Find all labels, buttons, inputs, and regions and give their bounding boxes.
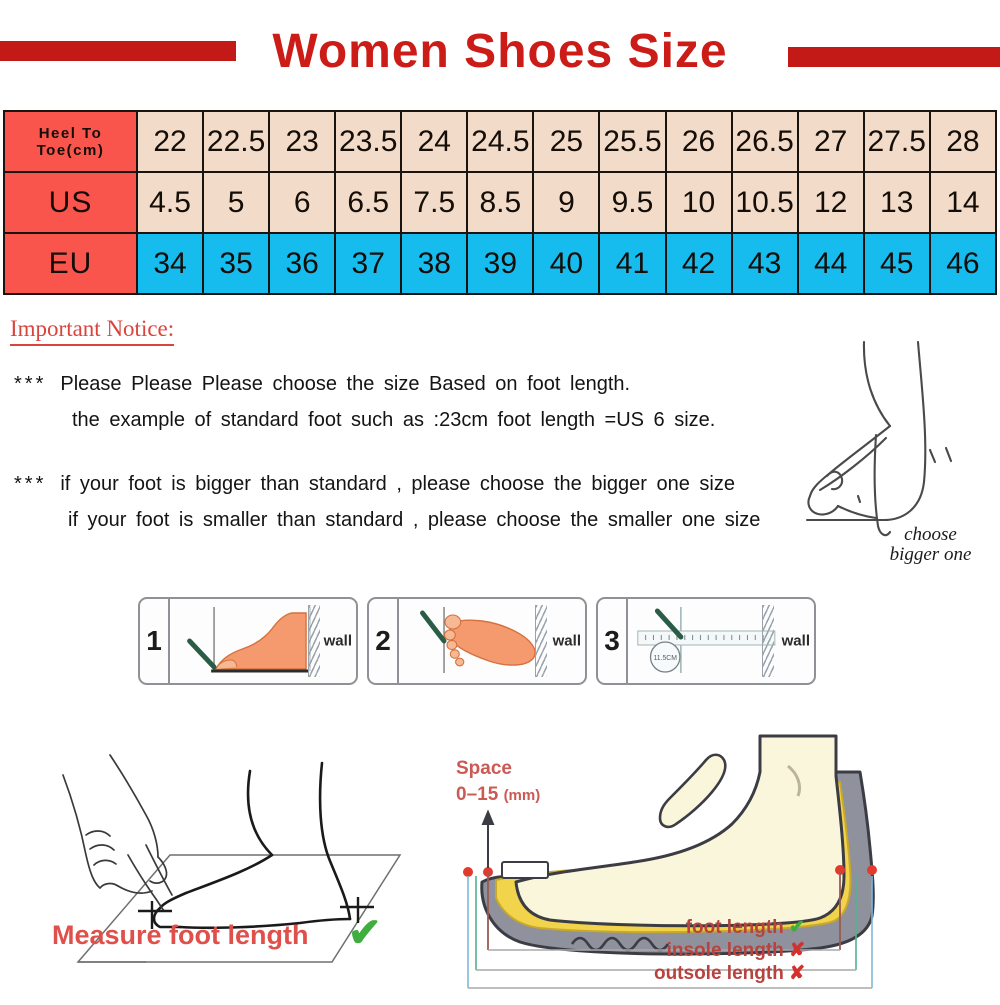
measuring-steps: 1 wall 2 [138,597,816,685]
notice-text-3: if your foot is bigger than standard , p… [60,473,735,495]
notice-block-2: ***if your foot is bigger than standard … [14,473,760,532]
cell-eu-1: 35 [203,233,269,294]
notice-text-1: Please Please Please choose the size Bas… [60,373,630,395]
cell-cm-1: 22.5 [203,111,269,172]
cell-eu-11: 45 [864,233,930,294]
cell-us-10: 12 [798,172,864,233]
foot-length-label-row: foot length ✔ [505,916,805,939]
wall-label-3: wall [782,633,810,650]
notice-block-2-line-1: ***if your foot is bigger than standard … [14,473,760,496]
wall-label-1: wall [324,633,352,650]
notice-text-4: if your foot is smaller than standard , … [68,509,760,532]
cell-cm-2: 23 [269,111,335,172]
step-1-illustration: wall [170,599,356,683]
foot-length-label: foot length [686,917,784,938]
insole-length-label-row: insole length ✘ [505,939,805,962]
cell-us-4: 7.5 [401,172,467,233]
cell-us-9: 10.5 [732,172,798,233]
insole-length-label: insole length [667,940,784,961]
step-number-2: 2 [369,599,399,683]
notice-text-2: the example of standard foot such as :23… [72,409,715,432]
notice-stars: *** [14,373,46,395]
space-label: Space 0–15 (mm) [456,756,540,807]
cell-cm-3: 23.5 [335,111,401,172]
space-label-line-1: Space [456,756,540,782]
cell-cm-9: 26.5 [732,111,798,172]
cell-eu-8: 42 [666,233,732,294]
cell-us-6: 9 [533,172,599,233]
cell-eu-4: 38 [401,233,467,294]
cell-us-0: 4.5 [137,172,203,233]
cell-cm-0: 22 [137,111,203,172]
wall-label-2: wall [553,633,581,650]
cell-eu-3: 37 [335,233,401,294]
magnifier-value-text: 11.5CM [653,655,677,662]
foot-side-sketch: choose bigger one [800,330,1000,580]
check-mark-icon: ✔ [789,917,805,938]
outsole-length-label: outsole length [654,963,784,984]
measure-foot-illustration: Measure foot length ✔ [0,705,420,1000]
wall-hatching-3 [762,605,774,677]
cell-eu-0: 34 [137,233,203,294]
table-row-us: US 4.5 5 6 6.5 7.5 8.5 9 9.5 10 10.5 12 … [4,172,996,233]
notice-stars-2: *** [14,473,46,495]
cell-eu-5: 39 [467,233,533,294]
cell-eu-10: 44 [798,233,864,294]
cell-eu-6: 40 [533,233,599,294]
cell-us-1: 5 [203,172,269,233]
cell-cm-7: 25.5 [599,111,665,172]
foot-sketch-caption-line-1: choose [858,525,1000,545]
table-row-eu: EU 34 35 36 37 38 39 40 41 42 43 44 45 4… [4,233,996,294]
cell-us-11: 13 [864,172,930,233]
step-number-3: 3 [598,599,628,683]
step-2-illustration: wall [399,599,585,683]
cell-us-12: 14 [930,172,996,233]
foot-sketch-caption: choose bigger one [858,525,1000,565]
space-range-value: 0–15 [456,784,498,805]
wall-hatching-2 [535,605,547,677]
cell-eu-7: 41 [599,233,665,294]
outsole-length-label-row: outsole length ✘ [505,962,805,985]
row-label-us: US [4,172,137,233]
row-label-heel-to-toe: Heel To Toe(cm) [4,111,137,172]
size-table-body: Heel To Toe(cm) 22 22.5 23 23.5 24 24.5 … [4,111,996,294]
foot-sketch-caption-line-2: bigger one [858,545,1000,565]
space-unit: (mm) [504,787,541,804]
notice-block-1-line-1: ***Please Please Please choose the size … [14,373,715,396]
cross-mark-icon-outsole: ✘ [789,963,805,984]
page-title: Women Shoes Size [0,24,1000,79]
green-check-icon: ✔ [348,910,382,956]
cell-cm-4: 24 [401,111,467,172]
notice-block-1: ***Please Please Please choose the size … [14,373,715,432]
cell-eu-9: 43 [732,233,798,294]
row-label-eu: EU [4,233,137,294]
cross-mark-icon-insole: ✘ [789,940,805,961]
cell-us-5: 8.5 [467,172,533,233]
cell-eu-12: 46 [930,233,996,294]
cell-cm-10: 27 [798,111,864,172]
step-panel-1: 1 wall [138,597,358,685]
step-3-illustration: 11.5CM wall [628,599,814,683]
length-labels: foot length ✔ insole length ✘ outsole le… [505,916,805,986]
step-panel-3: 3 11.5CM [596,597,816,685]
cell-us-7: 9.5 [599,172,665,233]
cell-cm-11: 27.5 [864,111,930,172]
cell-eu-2: 36 [269,233,335,294]
shoe-size-table: Heel To Toe(cm) 22 22.5 23 23.5 24 24.5 … [3,110,997,295]
cell-cm-8: 26 [666,111,732,172]
notice-title: Important Notice: [10,316,174,346]
cell-cm-5: 24.5 [467,111,533,172]
wall-hatching-1 [308,605,320,677]
step-number-1: 1 [140,599,170,683]
cell-us-2: 6 [269,172,335,233]
step-panel-2: 2 wall [367,597,587,685]
cell-us-8: 10 [666,172,732,233]
space-label-line-2: 0–15 (mm) [456,782,540,808]
cell-cm-12: 28 [930,111,996,172]
shoe-cross-section-diagram: Space 0–15 (mm) foot length ✔ insole len… [420,720,1000,1000]
cell-cm-6: 25 [533,111,599,172]
cell-us-3: 6.5 [335,172,401,233]
page-header: Women Shoes Size [0,0,1000,105]
table-row-heel-to-toe: Heel To Toe(cm) 22 22.5 23 23.5 24 24.5 … [4,111,996,172]
measure-foot-caption: Measure foot length [52,920,309,951]
